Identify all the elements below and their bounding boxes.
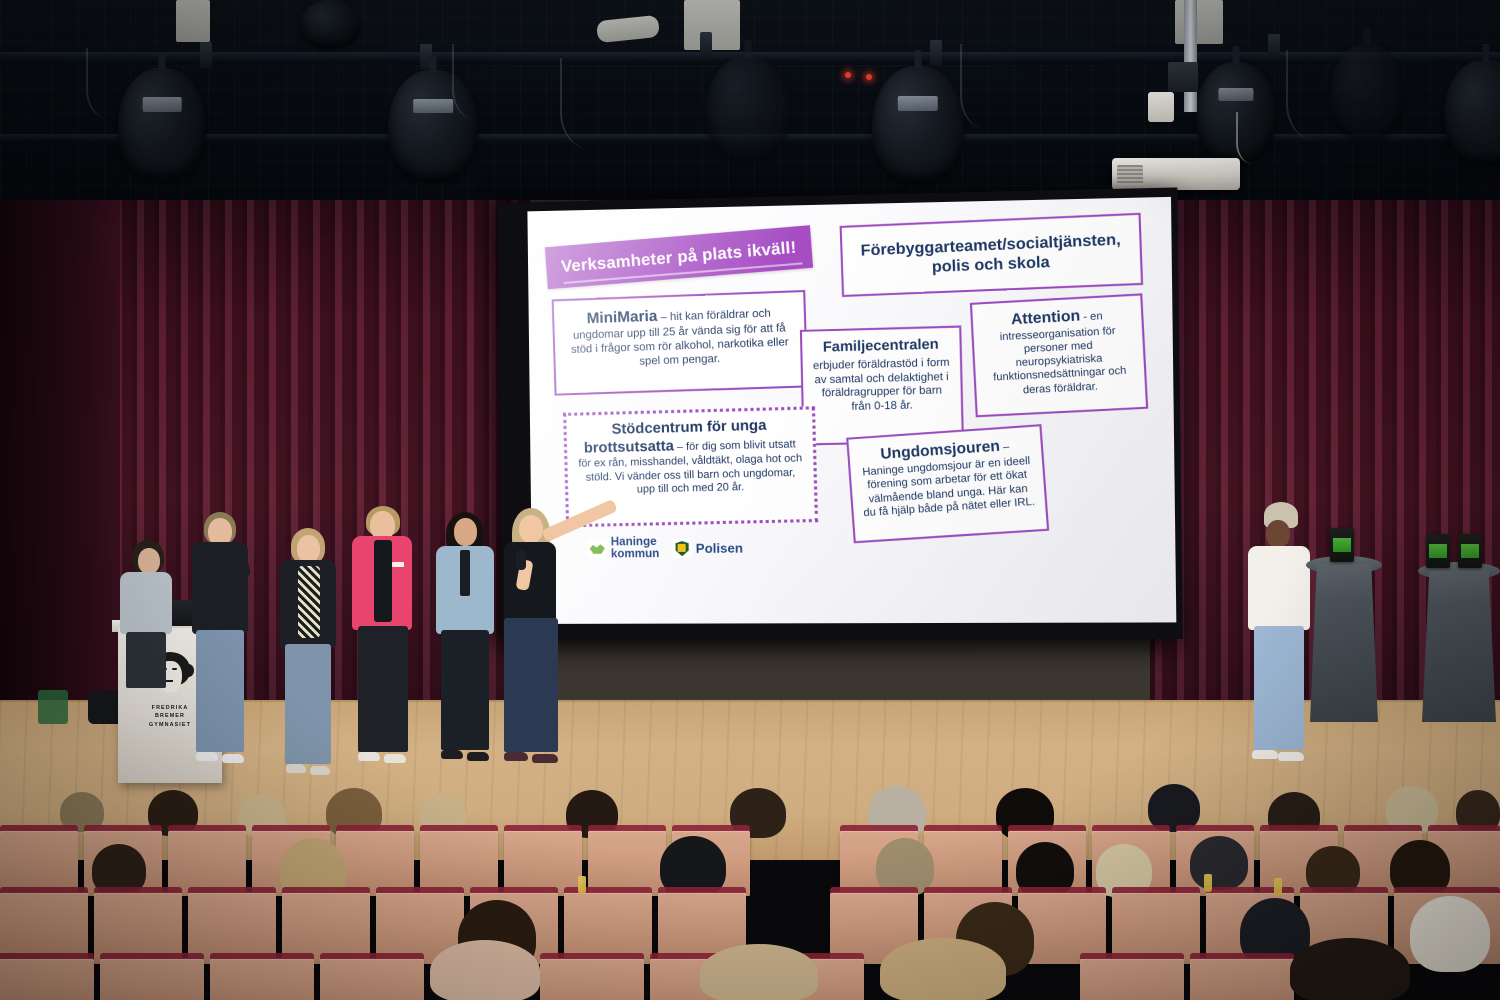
presenter-2-legs bbox=[196, 630, 244, 752]
gel-frame-1 bbox=[176, 0, 210, 42]
presenter-3-head bbox=[297, 535, 320, 563]
slide-box-minimaria: MiniMaria – hit kan föräldrar och ungdom… bbox=[552, 290, 809, 396]
projector-cable bbox=[1236, 112, 1264, 164]
presenter-1-legs bbox=[126, 632, 166, 688]
presenter-3 bbox=[278, 528, 340, 778]
presenter-6-head bbox=[519, 515, 543, 543]
curtain-left-shadow bbox=[0, 200, 120, 745]
presenter-3-blouse bbox=[298, 566, 320, 638]
seat[interactable] bbox=[540, 958, 644, 1000]
indicator-led-2 bbox=[866, 74, 872, 80]
presenter-4-legs bbox=[358, 626, 408, 752]
water-bottle-1[interactable] bbox=[578, 876, 586, 894]
haninge-line1: Haninge bbox=[611, 536, 657, 548]
projector-mount-plate bbox=[1168, 62, 1198, 92]
seat[interactable] bbox=[1080, 958, 1184, 1000]
audience-area bbox=[0, 780, 1500, 1000]
lamp-clamp-1 bbox=[200, 42, 212, 68]
stage-right-person bbox=[1248, 502, 1320, 770]
projection-screen: Verksamheter på plats ikväll! Förebyggar… bbox=[497, 187, 1183, 640]
presenter-5-shoe-right bbox=[467, 752, 489, 761]
haninge-logo-text: Haninge kommun bbox=[611, 537, 660, 561]
presenter-1 bbox=[116, 540, 176, 690]
seat[interactable] bbox=[210, 958, 314, 1000]
box-body-familjecentralen: erbjuder föräldrastöd i form av samtal o… bbox=[813, 356, 950, 413]
presenter-4-shoe-right bbox=[384, 754, 406, 763]
presenter-2-top bbox=[192, 542, 248, 634]
box-heading-attention: Attention bbox=[1011, 307, 1081, 328]
audience-head-front-2 bbox=[700, 944, 818, 1000]
cable-5 bbox=[86, 48, 122, 118]
presenter-3-shoe-left bbox=[286, 764, 306, 773]
seat[interactable] bbox=[320, 958, 424, 1000]
auditorium-scene: Verksamheter på plats ikväll! Förebyggar… bbox=[0, 0, 1500, 1000]
canister-3 bbox=[1458, 534, 1482, 568]
haninge-line2: kommun bbox=[611, 548, 660, 560]
gel-frame-2 bbox=[684, 0, 740, 50]
canister-2 bbox=[1426, 534, 1450, 568]
stage-light-3 bbox=[706, 56, 790, 160]
presenter-2 bbox=[190, 512, 252, 770]
cable-4 bbox=[1286, 50, 1334, 140]
seat[interactable] bbox=[0, 958, 94, 1000]
presenter-1-head bbox=[138, 548, 160, 574]
stage-right-shoe-right bbox=[1278, 752, 1304, 761]
gel-frame-3 bbox=[1175, 0, 1223, 44]
projected-slide: Verksamheter på plats ikväll! Förebyggar… bbox=[527, 197, 1176, 624]
presenter-4-shoe-left bbox=[358, 752, 380, 761]
canister-1 bbox=[1330, 528, 1354, 562]
polisen-crest-icon bbox=[672, 539, 692, 558]
lens-glow-5 bbox=[1218, 88, 1253, 101]
seat[interactable] bbox=[1190, 958, 1294, 1000]
audience-head-front-3 bbox=[880, 938, 1006, 1000]
water-bottle-3[interactable] bbox=[1274, 878, 1282, 896]
slide-header-box: Förebyggarteamet/socialtjänsten, polis o… bbox=[840, 213, 1144, 297]
logo-haninge-kommun: Haninge kommun bbox=[588, 537, 660, 561]
cocktail-table-1 bbox=[1310, 564, 1378, 722]
ceiling-camera bbox=[1148, 92, 1174, 122]
presenter-6-top bbox=[504, 542, 556, 622]
slide-footer-logos: Haninge kommun Polisen bbox=[588, 536, 744, 561]
seat[interactable] bbox=[100, 958, 204, 1000]
stage-right-head bbox=[1266, 520, 1290, 548]
slide-banner: Verksamheter på plats ikväll! bbox=[545, 225, 813, 289]
audience-head-front-4 bbox=[1290, 938, 1410, 1000]
presenter-4-name-badge bbox=[392, 562, 404, 567]
stage-light-4 bbox=[872, 66, 964, 182]
stage-right-jeans bbox=[1254, 626, 1304, 750]
presenter-5-legs bbox=[441, 630, 489, 750]
box-heading-familjecentralen: Familjecentralen bbox=[811, 336, 950, 358]
presenter-4 bbox=[350, 506, 416, 774]
presenter-3-shoe-right bbox=[310, 766, 330, 775]
stage-right-tshirt bbox=[1248, 546, 1310, 630]
indicator-led-1 bbox=[845, 72, 851, 78]
lamp-clamp-4 bbox=[930, 40, 942, 66]
presenter-4-inner-top bbox=[374, 540, 392, 622]
lens-glow-1 bbox=[143, 97, 182, 112]
stage-light-7 bbox=[300, 0, 360, 48]
presenter-2-shoe-left bbox=[196, 752, 218, 761]
lamp-clamp-5 bbox=[1268, 34, 1280, 60]
cable-2 bbox=[560, 58, 614, 150]
cable-3 bbox=[960, 44, 1006, 130]
water-bottle-2[interactable] bbox=[1204, 874, 1212, 892]
cable-1 bbox=[452, 44, 494, 120]
slide-box-familjecentralen: Familjecentralen erbjuder föräldrastöd i… bbox=[800, 326, 964, 446]
audience-head-c4 bbox=[1410, 896, 1490, 972]
slide-content: Verksamheter på plats ikväll! Förebyggar… bbox=[527, 197, 1176, 624]
projector bbox=[1112, 158, 1240, 190]
slide-box-ungdomsjouren: Ungdomsjouren – Haninge ungdomsjour är e… bbox=[846, 424, 1049, 543]
presenter-5-head bbox=[454, 518, 477, 546]
box-heading-minimaria: MiniMaria bbox=[586, 308, 657, 328]
audience-head-front-1 bbox=[430, 940, 540, 1000]
presenter-3-legs bbox=[285, 644, 331, 764]
green-bin bbox=[38, 690, 68, 724]
lens-glow-4 bbox=[898, 96, 938, 111]
projector-vent bbox=[1117, 165, 1143, 185]
stage-light-8 bbox=[1330, 44, 1404, 140]
stage-light-1 bbox=[118, 68, 206, 180]
slide-box-attention: Attention - en intresseorganisation för … bbox=[970, 293, 1148, 417]
presenter-5 bbox=[434, 512, 498, 774]
cocktail-table-2 bbox=[1422, 570, 1496, 722]
presenter-6-legs bbox=[504, 618, 558, 752]
presenter-5-shoe-left bbox=[441, 750, 463, 759]
lamp-clamp-3 bbox=[700, 32, 712, 58]
audience-head-b6 bbox=[1190, 836, 1248, 890]
microphone bbox=[516, 550, 526, 570]
presenter-1-top bbox=[120, 572, 172, 634]
projector-mount-pole bbox=[1184, 0, 1197, 112]
polisen-logo-text: Polisen bbox=[696, 542, 743, 556]
presenter-6-speaker bbox=[500, 508, 580, 776]
ceiling-rig bbox=[0, 0, 1500, 210]
presenter-5-lanyard bbox=[460, 550, 470, 596]
logo-polisen: Polisen bbox=[672, 539, 743, 559]
haninge-bird-icon bbox=[588, 540, 607, 559]
stage-right-shoe-left bbox=[1252, 750, 1278, 759]
presenter-6-shoe-right bbox=[532, 754, 558, 763]
lens-glow-2 bbox=[413, 99, 453, 113]
presenter-6-shoe-left bbox=[504, 752, 528, 761]
presenter-2-shoe-right bbox=[222, 754, 244, 763]
